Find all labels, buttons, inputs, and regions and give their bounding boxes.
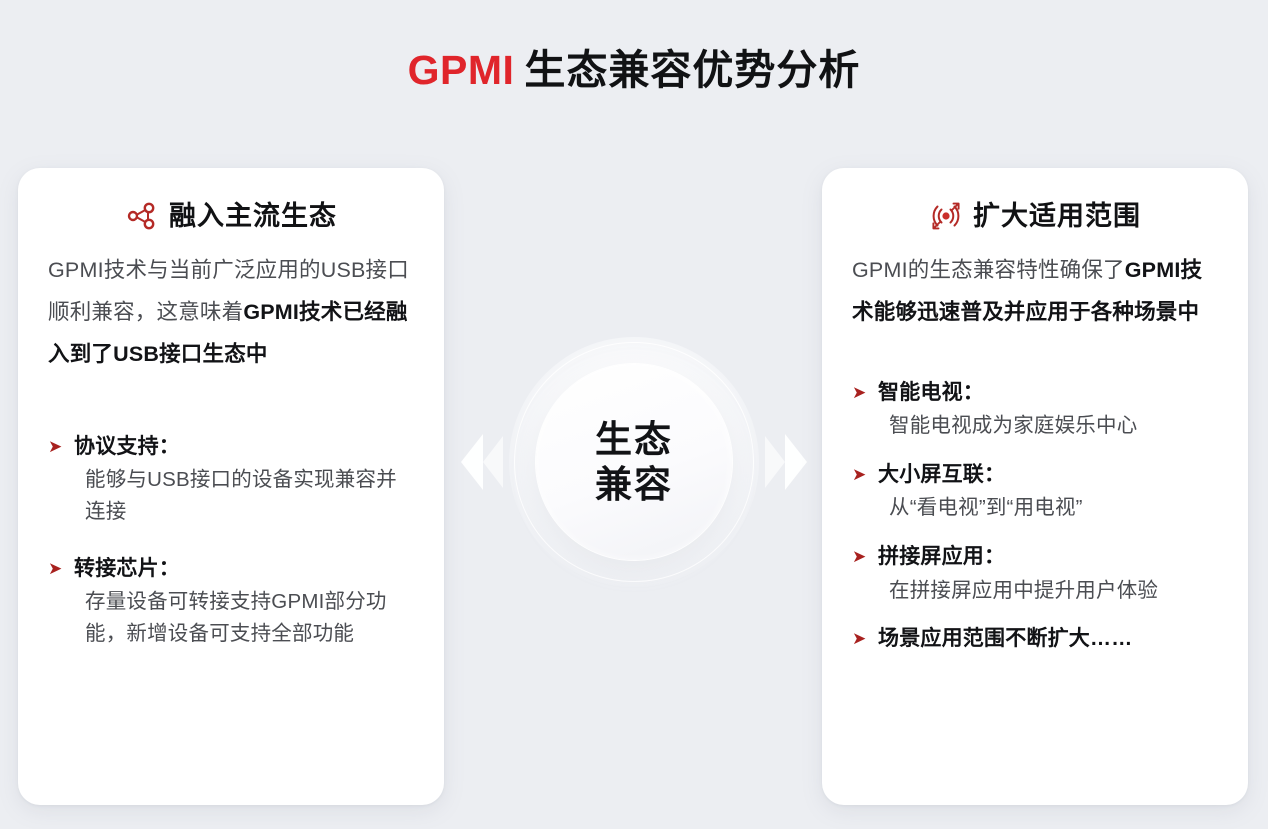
- expand-range-icon: [929, 199, 963, 233]
- bullet-list-right: ➤ 智能电视： 智能电视成为家庭娱乐中心 ➤ 大小屏互联： 从“看电视”到“用电…: [852, 378, 1218, 655]
- hub-label-line1: 生态: [595, 417, 673, 462]
- card-intro-right-normal: GPMI的生态兼容特性确保了: [852, 258, 1125, 282]
- double-chevron-right-icon: [761, 426, 815, 498]
- page-title-brand: GPMI: [408, 47, 515, 93]
- card-expand-application-scope: 扩大适用范围 GPMI的生态兼容特性确保了GPMI技术能够迅速普及并应用于各种场…: [822, 168, 1248, 805]
- hub-label: 生态 兼容: [595, 417, 673, 507]
- bullet-title: 协议支持：: [74, 432, 414, 462]
- bullet-title: 拼接屏应用：: [878, 542, 1218, 572]
- bullet-desc: 智能电视成为家庭娱乐中心: [878, 410, 1218, 442]
- page-title: GPMI生态兼容优势分析: [0, 46, 1268, 95]
- bullet-desc: 从“看电视”到“用电视”: [878, 492, 1218, 524]
- arrow-bullet-icon: ➤: [852, 626, 866, 652]
- list-item: ➤ 大小屏互联： 从“看电视”到“用电视”: [852, 460, 1218, 524]
- card-header-left: 融入主流生态: [48, 190, 414, 242]
- card-title-left: 融入主流生态: [169, 203, 337, 230]
- arrow-bullet-icon: ➤: [852, 462, 866, 488]
- card-intro-left: GPMI技术与当前广泛应用的USB接口顺利兼容，这意味着GPMI技术已经融入到了…: [48, 250, 414, 376]
- arrow-bullet-icon: ➤: [48, 556, 62, 582]
- bullet-desc: 存量设备可转接支持GPMI部分功能，新增设备可支持全部功能: [74, 586, 414, 650]
- bullet-title: 转接芯片：: [74, 554, 414, 584]
- arrow-bullet-icon: ➤: [852, 544, 866, 570]
- bullet-list-left: ➤ 协议支持： 能够与USB接口的设备实现兼容并连接 ➤ 转接芯片： 存量设备可…: [48, 432, 414, 650]
- page-title-rest: 生态兼容优势分析: [524, 47, 860, 93]
- list-item: ➤ 智能电视： 智能电视成为家庭娱乐中心: [852, 378, 1218, 442]
- card-integrate-mainstream-ecosystem: 融入主流生态 GPMI技术与当前广泛应用的USB接口顺利兼容，这意味着GPMI技…: [18, 168, 444, 805]
- arrow-bullet-icon: ➤: [48, 434, 62, 460]
- center-hub: 生态 兼容: [459, 287, 809, 637]
- double-chevron-left-icon: [453, 426, 507, 498]
- bullet-title: 大小屏互联：: [878, 460, 1218, 490]
- card-title-right: 扩大适用范围: [973, 203, 1141, 230]
- card-intro-right: GPMI的生态兼容特性确保了GPMI技术能够迅速普及并应用于各种场景中: [852, 250, 1218, 334]
- list-item: ➤ 协议支持： 能够与USB接口的设备实现兼容并连接: [48, 432, 414, 528]
- bullet-desc: 能够与USB接口的设备实现兼容并连接: [74, 464, 414, 528]
- bullet-title: 智能电视：: [878, 378, 1218, 408]
- bullet-desc: 在拼接屏应用中提升用户体验: [878, 575, 1218, 607]
- bullet-title: 场景应用范围不断扩大……: [878, 624, 1218, 654]
- arrow-bullet-icon: ➤: [852, 380, 866, 406]
- card-header-right: 扩大适用范围: [852, 190, 1218, 242]
- hub-label-line2: 兼容: [595, 462, 673, 507]
- list-item: ➤ 转接芯片： 存量设备可转接支持GPMI部分功能，新增设备可支持全部功能: [48, 554, 414, 650]
- list-item: ➤ 场景应用范围不断扩大……: [852, 624, 1218, 654]
- list-item: ➤ 拼接屏应用： 在拼接屏应用中提升用户体验: [852, 542, 1218, 606]
- share-network-icon: [125, 199, 159, 233]
